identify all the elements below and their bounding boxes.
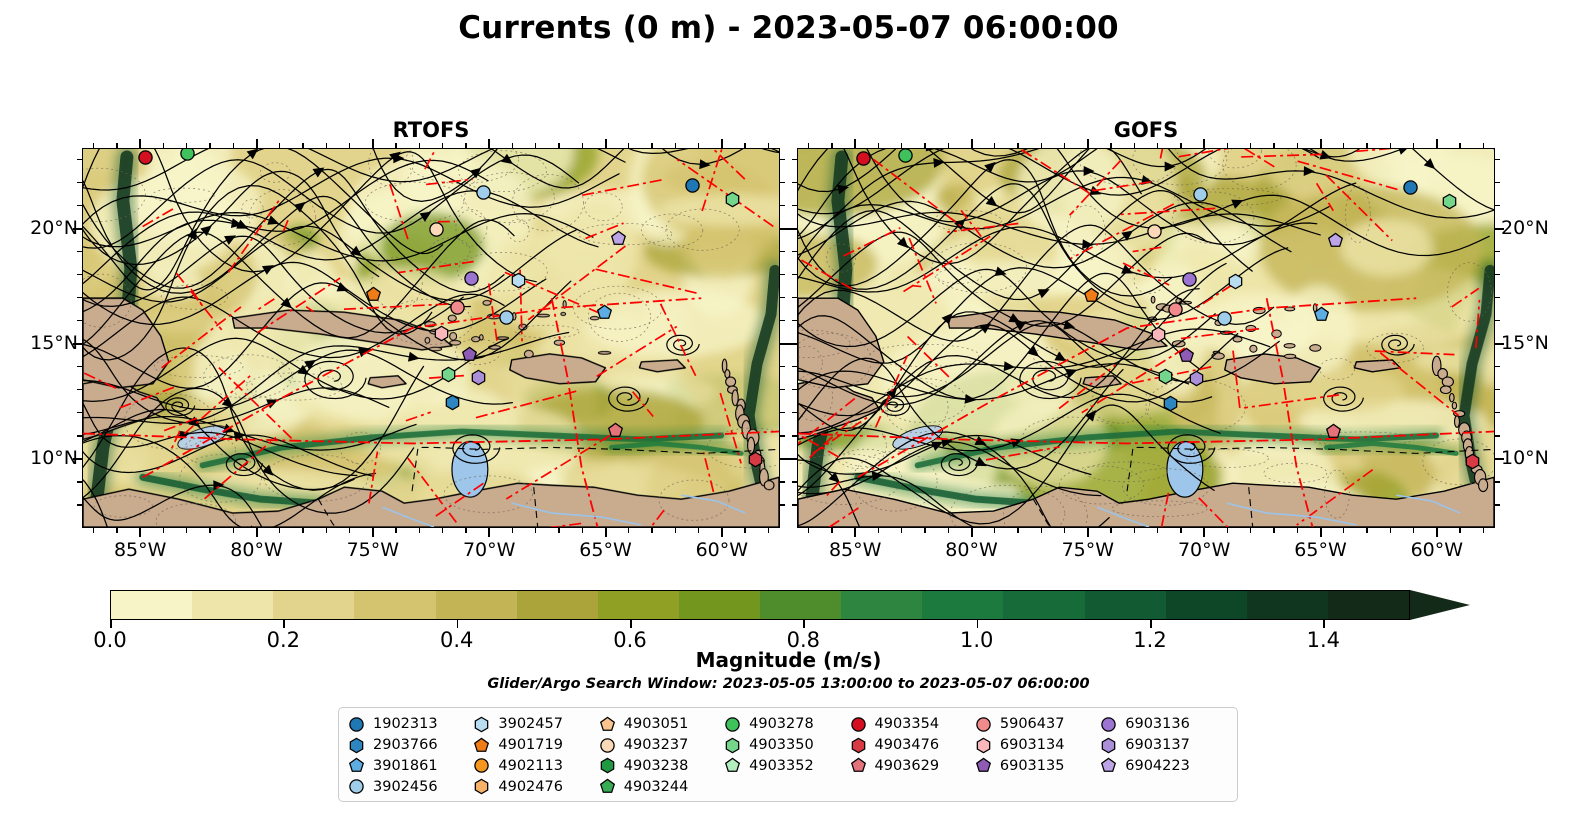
map-marker-3902457[interactable] — [1228, 274, 1243, 289]
legend-entry-6903134[interactable]: 6903134 — [976, 735, 1101, 756]
ytick-minor-right-gofs-13 — [1495, 389, 1500, 390]
legend-entry-3902457[interactable]: 3902457 — [474, 714, 599, 735]
xtick-minor-gofs--59 — [1459, 528, 1460, 533]
colorbar-segment-4 — [436, 591, 517, 619]
map-marker-3902457[interactable] — [511, 273, 526, 288]
circle-marker-icon — [349, 717, 364, 732]
ytick-minor-right-gofs-23 — [1495, 159, 1500, 160]
xtick-minor-gofs--81 — [948, 528, 949, 533]
xtick-major-top-gofs-2 — [1087, 139, 1089, 148]
xtick-minor-gofs--66 — [1297, 528, 1298, 533]
ytick-minor-right-rtofs-14 — [780, 366, 785, 367]
ytick-minor-left-gofs-16 — [792, 320, 797, 321]
xtick-minor-gofs--79 — [994, 528, 995, 533]
xtick-minor-rtofs--79 — [279, 528, 280, 533]
map-marker-6903135[interactable] — [1179, 348, 1194, 363]
ytick-label-left-2: 10°N — [8, 447, 78, 469]
ytick-minor-left-rtofs-23 — [77, 159, 82, 160]
xtick-minor-gofs--62 — [1390, 528, 1391, 533]
xtick-minor-gofs--82 — [924, 528, 925, 533]
xtick-major-gofs-2 — [1087, 528, 1089, 537]
map-marker-4903629[interactable] — [1326, 424, 1341, 439]
xtick-minor-top-rtofs--59 — [744, 143, 745, 148]
legend-entry-3901861[interactable]: 3901861 — [349, 756, 474, 777]
legend-column-3: 4903278490335049033520000000 — [725, 714, 850, 797]
map-marker-2903766[interactable] — [445, 395, 460, 410]
pentagon-marker-icon — [474, 738, 489, 753]
legend-label: 4903476 — [875, 737, 940, 753]
legend-entry-4902476[interactable]: 4902476 — [474, 776, 599, 797]
legend-entry-6903136[interactable]: 6903136 — [1101, 714, 1226, 735]
map-marker-4903354[interactable] — [138, 150, 153, 165]
ytick-minor-right-rtofs-17 — [780, 297, 785, 298]
xtick-major-rtofs-4 — [605, 528, 607, 537]
xtick-minor-top-gofs--71 — [1180, 143, 1181, 148]
map-marker-6903135[interactable] — [462, 347, 477, 362]
colorbar-segment-3 — [354, 591, 435, 619]
legend-entry-4903476[interactable]: 4903476 — [851, 735, 976, 756]
colorbar-segment-15 — [1328, 591, 1409, 619]
pentagon-marker-icon — [600, 779, 615, 794]
circle-marker-icon — [474, 758, 489, 773]
map-marker-4903237[interactable] — [1147, 224, 1162, 239]
legend-column-4: 4903354490347649036290000000 — [851, 714, 976, 797]
colorbar-tick-label-3: 0.6 — [585, 628, 675, 652]
ytick-minor-left-gofs-18 — [792, 274, 797, 275]
xtick-minor-gofs--71 — [1180, 528, 1181, 533]
panel-title-gofs: GOFS — [797, 118, 1495, 142]
xtick-minor-top-gofs--67 — [1273, 143, 1274, 148]
ytick-minor-left-gofs-23 — [792, 159, 797, 160]
xtick-minor-gofs--73 — [1134, 528, 1135, 533]
hexagon-marker-icon — [851, 738, 866, 753]
map-canvas-rtofs — [83, 149, 779, 527]
colorbar-tick-label-0: 0.0 — [65, 628, 155, 652]
xtick-minor-top-gofs--74 — [1110, 143, 1111, 148]
pentagon-marker-icon — [851, 758, 866, 773]
xtick-minor-gofs--77 — [1041, 528, 1042, 533]
colorbar-extend-arrow — [1410, 590, 1470, 620]
hexagon-marker-icon — [474, 779, 489, 794]
xtick-minor-top-rtofs--73 — [419, 143, 420, 148]
xtick-minor-rtofs--64 — [628, 528, 629, 533]
ytick-minor-left-gofs-8 — [792, 504, 797, 505]
xtick-minor-gofs--74 — [1110, 528, 1111, 533]
xtick-minor-top-rtofs--67 — [558, 143, 559, 148]
colorbar-tick-2 — [457, 620, 459, 628]
ytick-label-right-1: 15°N — [1501, 332, 1549, 354]
legend-label: 3902457 — [498, 716, 563, 732]
legend-entry-6904223[interactable]: 6904223 — [1101, 756, 1226, 777]
map-marker-6903137[interactable] — [1189, 371, 1204, 386]
ytick-minor-left-rtofs-22 — [77, 182, 82, 183]
map-marker-4903350[interactable] — [1442, 194, 1457, 209]
ytick-minor-right-rtofs-8 — [780, 504, 785, 505]
circle-marker-icon — [349, 779, 364, 794]
map-marker-4901719[interactable] — [1084, 288, 1099, 303]
xtick-major-gofs-4 — [1320, 528, 1322, 537]
colorbar-segment-5 — [517, 591, 598, 619]
ytick-label-right-2: 10°N — [1501, 447, 1549, 469]
ytick-minor-left-rtofs-18 — [77, 274, 82, 275]
map-marker-4903352[interactable] — [441, 367, 456, 382]
colorbar-tick-0 — [110, 620, 112, 628]
ytick-minor-left-rtofs-16 — [77, 320, 82, 321]
colorbar-tick-label-1: 0.2 — [238, 628, 328, 652]
legend-label: 4903237 — [624, 737, 689, 753]
legend-entry-4903051[interactable]: 4903051 — [600, 714, 725, 735]
colorbar-segment-11 — [1003, 591, 1084, 619]
xtick-minor-top-rtofs--76 — [349, 143, 350, 148]
xtick-minor-top-gofs--61 — [1413, 143, 1414, 148]
colorbar-segment-13 — [1166, 591, 1247, 619]
xtick-minor-rtofs--84 — [163, 528, 164, 533]
ytick-minor-left-rtofs-17 — [77, 297, 82, 298]
xtick-minor-rtofs--67 — [558, 528, 559, 533]
ytick-minor-right-gofs-18 — [1495, 274, 1500, 275]
xtick-label-rtofs-2: 75°W — [328, 539, 418, 561]
xtick-minor-gofs--78 — [1017, 528, 1018, 533]
xtick-major-top-rtofs-0 — [139, 139, 141, 148]
legend-entry-4903352[interactable]: 4903352 — [725, 756, 850, 777]
xtick-minor-rtofs--61 — [698, 528, 699, 533]
colorbar-gradient — [110, 590, 1410, 620]
colorbar-segment-14 — [1247, 591, 1328, 619]
colorbar-segment-1 — [192, 591, 273, 619]
xtick-major-top-rtofs-1 — [256, 139, 258, 148]
legend-entry-6903137[interactable]: 6903137 — [1101, 735, 1226, 756]
ytick-minor-right-rtofs-11 — [780, 435, 785, 436]
ytick-minor-right-rtofs-12 — [780, 412, 785, 413]
map-marker-4903278[interactable] — [180, 148, 195, 161]
legend-entry-empty: 0000000 — [725, 776, 850, 797]
legend-column-2: 4903051490323749032384903244 — [600, 714, 725, 797]
ytick-minor-left-gofs-12 — [792, 412, 797, 413]
map-marker-4903350[interactable] — [725, 192, 740, 207]
xtick-minor-top-gofs--62 — [1390, 143, 1391, 148]
xtick-minor-gofs--84 — [878, 528, 879, 533]
circle-marker-icon — [976, 717, 991, 732]
xtick-minor-top-rtofs--64 — [628, 143, 629, 148]
legend-entry-4903244[interactable]: 4903244 — [600, 776, 725, 797]
xtick-minor-top-rtofs--71 — [465, 143, 466, 148]
ytick-minor-right-rtofs-21 — [780, 205, 785, 206]
xtick-major-rtofs-2 — [372, 528, 374, 537]
map-marker-4903278[interactable] — [898, 148, 913, 163]
xtick-minor-top-gofs--64 — [1343, 143, 1344, 148]
map-marker-3902456[interactable] — [1193, 187, 1208, 202]
xtick-minor-rtofs--73 — [419, 528, 420, 533]
panel-title-rtofs: RTOFS — [82, 118, 780, 142]
xtick-minor-top-gofs--82 — [924, 143, 925, 148]
legend-entry-empty: 0000000 — [851, 776, 976, 797]
xtick-minor-rtofs--71 — [465, 528, 466, 533]
xtick-minor-rtofs--86 — [116, 528, 117, 533]
legend-entry-4903237[interactable]: 4903237 — [600, 735, 725, 756]
xtick-minor-top-gofs--66 — [1297, 143, 1298, 148]
ytick-minor-left-rtofs-12 — [77, 412, 82, 413]
map-marker-6903134[interactable] — [434, 326, 449, 341]
ytick-minor-left-gofs-22 — [792, 182, 797, 183]
ytick-minor-right-rtofs-9 — [780, 481, 785, 482]
circle-marker-icon — [725, 717, 740, 732]
legend-label: 4903051 — [624, 716, 689, 732]
legend-column-5: 5906437690313469031350000000 — [976, 714, 1101, 797]
colorbar-segment-8 — [760, 591, 841, 619]
legend-label: 2903766 — [373, 737, 438, 753]
ytick-minor-left-gofs-11 — [792, 435, 797, 436]
xtick-minor-top-gofs--76 — [1064, 143, 1065, 148]
map-marker-6903136[interactable] — [464, 271, 479, 286]
legend-label: 6903136 — [1125, 716, 1190, 732]
map-marker-5906437[interactable] — [450, 300, 465, 315]
float-legend[interactable]: 1902313290376639018613902456390245749017… — [338, 707, 1238, 802]
ytick-major-left-gofs-1 — [788, 343, 797, 345]
xtick-major-gofs-0 — [854, 528, 856, 537]
xtick-minor-top-rtofs--62 — [675, 143, 676, 148]
ytick-minor-right-gofs-19 — [1495, 251, 1500, 252]
map-marker-3901861[interactable] — [1314, 307, 1329, 322]
xtick-minor-top-rtofs--87 — [93, 143, 94, 148]
xtick-label-gofs-3: 70°W — [1159, 539, 1249, 561]
map-panel-gofs[interactable] — [797, 148, 1495, 528]
legend-label: 4903278 — [749, 716, 814, 732]
xtick-minor-top-gofs--72 — [1157, 143, 1158, 148]
pentagon-marker-icon — [725, 758, 740, 773]
xtick-minor-top-rtofs--58 — [768, 143, 769, 148]
ytick-minor-left-rtofs-9 — [77, 481, 82, 482]
xtick-minor-gofs--64 — [1343, 528, 1344, 533]
map-marker-2903766[interactable] — [1163, 396, 1178, 411]
xtick-minor-top-gofs--87 — [808, 143, 809, 148]
ytick-label-right-0: 20°N — [1501, 217, 1549, 239]
map-marker-4903237[interactable] — [429, 222, 444, 237]
xtick-major-top-gofs-4 — [1320, 139, 1322, 148]
circle-marker-icon — [600, 738, 615, 753]
map-marker-3902456[interactable] — [476, 185, 491, 200]
colorbar[interactable] — [110, 590, 1455, 620]
hexagon-marker-icon — [474, 717, 489, 732]
xtick-minor-rtofs--78 — [302, 528, 303, 533]
xtick-minor-top-rtofs--86 — [116, 143, 117, 148]
xtick-minor-rtofs--83 — [186, 528, 187, 533]
colorbar-segment-6 — [598, 591, 679, 619]
xtick-major-top-rtofs-3 — [488, 139, 490, 148]
xtick-minor-gofs--69 — [1227, 528, 1228, 533]
xtick-minor-top-rtofs--83 — [186, 143, 187, 148]
legend-label: 4903354 — [875, 716, 940, 732]
map-marker-5906437[interactable] — [1168, 302, 1183, 317]
legend-columns: 1902313290376639018613902456390245749017… — [349, 714, 1227, 797]
ytick-label-left-0: 20°N — [8, 217, 78, 239]
legend-entry-4903350[interactable]: 4903350 — [725, 735, 850, 756]
ytick-minor-right-rtofs-13 — [780, 389, 785, 390]
map-marker-3901861[interactable] — [597, 305, 612, 320]
legend-entry-empty: 0000000 — [1101, 776, 1226, 797]
legend-entry-empty: 0000000 — [976, 776, 1101, 797]
map-marker-1902313[interactable] — [1403, 180, 1418, 195]
legend-entry-4902113[interactable]: 4902113 — [474, 756, 599, 777]
ytick-minor-left-rtofs-11 — [77, 435, 82, 436]
xtick-minor-rtofs--69 — [512, 528, 513, 533]
page-title: Currents (0 m) - 2023-05-07 06:00:00 — [0, 10, 1577, 46]
legend-entry-2903766[interactable]: 2903766 — [349, 735, 474, 756]
xtick-minor-top-rtofs--79 — [279, 143, 280, 148]
legend-label: 4902113 — [498, 758, 563, 774]
legend-entry-4903238[interactable]: 4903238 — [600, 756, 725, 777]
xtick-label-rtofs-4: 65°W — [561, 539, 651, 561]
xtick-minor-gofs--61 — [1413, 528, 1414, 533]
xtick-minor-gofs--76 — [1064, 528, 1065, 533]
legend-entry-4903629[interactable]: 4903629 — [851, 756, 976, 777]
map-marker-6903137[interactable] — [471, 370, 486, 385]
colorbar-tick-7 — [1323, 620, 1325, 628]
colorbar-tick-5 — [977, 620, 979, 628]
legend-entry-4903354[interactable]: 4903354 — [851, 714, 976, 735]
xtick-minor-top-rtofs--82 — [209, 143, 210, 148]
xtick-minor-gofs--58 — [1483, 528, 1484, 533]
xtick-minor-top-gofs--79 — [994, 143, 995, 148]
colorbar-segment-0 — [111, 591, 192, 619]
ytick-minor-left-rtofs-14 — [77, 366, 82, 367]
colorbar-tick-label-6: 1.2 — [1105, 628, 1195, 652]
legend-entry-4901719[interactable]: 4901719 — [474, 735, 599, 756]
xtick-major-rtofs-3 — [488, 528, 490, 537]
map-marker-1902313[interactable] — [685, 178, 700, 193]
legend-label: 6903134 — [1000, 737, 1065, 753]
map-marker-4903476[interactable] — [1465, 454, 1480, 469]
xtick-minor-rtofs--63 — [651, 528, 652, 533]
xtick-minor-rtofs--81 — [233, 528, 234, 533]
hexagon-marker-icon — [600, 758, 615, 773]
xtick-major-top-gofs-1 — [971, 139, 973, 148]
legend-entry-5906437[interactable]: 5906437 — [976, 714, 1101, 735]
map-marker-4903476[interactable] — [748, 452, 763, 467]
xtick-minor-top-rtofs--84 — [163, 143, 164, 148]
map-panel-rtofs[interactable] — [82, 148, 780, 528]
legend-label: 4903238 — [624, 758, 689, 774]
xtick-label-rtofs-1: 80°W — [212, 539, 302, 561]
ytick-minor-left-rtofs-8 — [77, 504, 82, 505]
legend-label: 6904223 — [1125, 758, 1190, 774]
ytick-minor-left-gofs-14 — [792, 366, 797, 367]
map-marker-6903134[interactable] — [1151, 327, 1166, 342]
map-marker-4903629[interactable] — [608, 423, 623, 438]
xtick-minor-top-gofs--83 — [901, 143, 902, 148]
xtick-major-top-gofs-3 — [1203, 139, 1205, 148]
hexagon-marker-icon — [1101, 738, 1116, 753]
pentagon-marker-icon — [1101, 758, 1116, 773]
xtick-minor-rtofs--68 — [535, 528, 536, 533]
map-marker-3902456b[interactable] — [1217, 311, 1232, 326]
legend-label: 4901719 — [498, 737, 563, 753]
map-marker-3902456b[interactable] — [499, 310, 514, 325]
xtick-minor-gofs--87 — [808, 528, 809, 533]
map-marker-4901719[interactable] — [366, 287, 381, 302]
xtick-minor-top-rtofs--61 — [698, 143, 699, 148]
map-marker-4903354[interactable] — [856, 151, 871, 166]
colorbar-tick-label-4: 0.8 — [758, 628, 848, 652]
legend-entry-4903278[interactable]: 4903278 — [725, 714, 850, 735]
pentagon-marker-icon — [600, 717, 615, 732]
xtick-minor-top-gofs--69 — [1227, 143, 1228, 148]
xtick-minor-rtofs--62 — [675, 528, 676, 533]
xtick-minor-rtofs--59 — [744, 528, 745, 533]
ytick-minor-right-gofs-17 — [1495, 297, 1500, 298]
xtick-major-top-gofs-0 — [854, 139, 856, 148]
xtick-minor-top-gofs--68 — [1250, 143, 1251, 148]
colorbar-segment-7 — [679, 591, 760, 619]
legend-column-0: 1902313290376639018613902456 — [349, 714, 474, 797]
xtick-minor-gofs--86 — [831, 528, 832, 533]
xtick-minor-rtofs--72 — [442, 528, 443, 533]
xtick-minor-top-gofs--78 — [1017, 143, 1018, 148]
legend-label: 6903135 — [1000, 758, 1065, 774]
search-window-caption: Glider/Argo Search Window: 2023-05-05 13… — [0, 676, 1577, 692]
xtick-label-gofs-5: 60°W — [1392, 539, 1482, 561]
ytick-label-left-1: 15°N — [8, 332, 78, 354]
legend-entry-1902313[interactable]: 1902313 — [349, 714, 474, 735]
ytick-minor-right-gofs-9 — [1495, 481, 1500, 482]
legend-label: 4902476 — [498, 779, 563, 795]
xtick-minor-top-rtofs--68 — [535, 143, 536, 148]
legend-label: 4903629 — [875, 758, 940, 774]
xtick-major-gofs-1 — [971, 528, 973, 537]
legend-column-6: 6903136690313769042230000000 — [1101, 714, 1226, 797]
xtick-minor-top-rtofs--81 — [233, 143, 234, 148]
xtick-major-rtofs-1 — [256, 528, 258, 537]
xtick-minor-top-gofs--58 — [1483, 143, 1484, 148]
ytick-major-left-gofs-0 — [788, 228, 797, 230]
legend-label: 4903244 — [624, 779, 689, 795]
xtick-minor-top-gofs--59 — [1459, 143, 1460, 148]
colorbar-tick-4 — [803, 620, 805, 628]
circle-marker-icon — [851, 717, 866, 732]
hexagon-marker-icon — [976, 738, 991, 753]
xtick-minor-top-rtofs--66 — [582, 143, 583, 148]
colorbar-segment-12 — [1085, 591, 1166, 619]
xtick-label-rtofs-3: 70°W — [444, 539, 534, 561]
ytick-minor-right-gofs-12 — [1495, 412, 1500, 413]
xtick-major-rtofs-0 — [139, 528, 141, 537]
legend-label: 6903137 — [1125, 737, 1190, 753]
xtick-minor-top-gofs--73 — [1134, 143, 1135, 148]
legend-label: 3902456 — [373, 779, 438, 795]
ytick-minor-left-gofs-21 — [792, 205, 797, 206]
map-marker-4903352[interactable] — [1158, 369, 1173, 384]
xtick-minor-rtofs--77 — [326, 528, 327, 533]
legend-entry-3902456[interactable]: 3902456 — [349, 776, 474, 797]
xtick-major-top-gofs-5 — [1436, 139, 1438, 148]
ytick-minor-right-gofs-11 — [1495, 435, 1500, 436]
xtick-minor-rtofs--58 — [768, 528, 769, 533]
legend-entry-6903135[interactable]: 6903135 — [976, 756, 1101, 777]
ytick-minor-right-rtofs-19 — [780, 251, 785, 252]
colorbar-tick-6 — [1150, 620, 1152, 628]
map-marker-6904223[interactable] — [611, 231, 626, 246]
legend-label: 3901861 — [373, 758, 438, 774]
map-marker-6904223[interactable] — [1328, 233, 1343, 248]
xtick-major-top-rtofs-4 — [605, 139, 607, 148]
xtick-major-top-rtofs-2 — [372, 139, 374, 148]
map-marker-6903136[interactable] — [1182, 272, 1197, 287]
xtick-major-top-rtofs-5 — [721, 139, 723, 148]
xtick-major-gofs-3 — [1203, 528, 1205, 537]
colorbar-tick-label-7: 1.4 — [1278, 628, 1368, 652]
xtick-label-gofs-4: 65°W — [1276, 539, 1366, 561]
xtick-label-rtofs-5: 60°W — [677, 539, 767, 561]
ytick-major-left-gofs-2 — [788, 458, 797, 460]
